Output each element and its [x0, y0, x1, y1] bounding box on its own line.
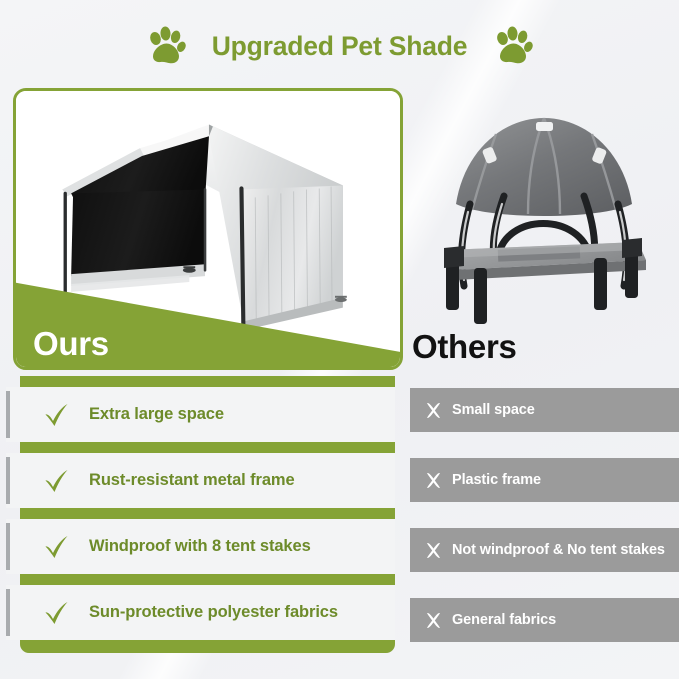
others-feature-label: Not windproof & No tent stakes: [452, 542, 665, 558]
ours-feature-list: Extra large space Rust-resistant metal f…: [6, 376, 403, 653]
row-edge-tab: [6, 457, 10, 504]
ours-feature-label: Sun-protective polyester fabrics: [89, 603, 338, 622]
others-feature-row: Not windproof & No tent stakes: [410, 528, 679, 572]
ours-product-card: Ours: [13, 88, 403, 370]
green-separator-bar: [20, 376, 395, 387]
others-feature-label: Small space: [452, 402, 535, 418]
ours-feature-label: Rust-resistant metal frame: [89, 471, 295, 490]
green-separator-bar: [20, 640, 395, 653]
others-feature-list: Small space Plastic frame Not windproof …: [410, 388, 679, 668]
ours-feature-row: Sun-protective polyester fabrics: [6, 585, 395, 640]
others-label: Others: [412, 330, 517, 363]
cross-mark-icon: [424, 611, 443, 630]
cross-mark-icon: [424, 471, 443, 490]
green-separator-bar: [20, 442, 395, 453]
row-edge-tab: [6, 589, 10, 636]
check-mark-icon: [42, 401, 70, 429]
ours-feature-row: Rust-resistant metal frame: [6, 453, 395, 508]
others-feature-label: Plastic frame: [452, 472, 541, 488]
others-product-photo: [412, 100, 676, 328]
header: Upgraded Pet Shade: [0, 18, 679, 74]
others-feature-row: Small space: [410, 388, 679, 432]
row-edge-tab: [6, 391, 10, 438]
others-feature-row: General fabrics: [410, 598, 679, 642]
green-separator-bar: [20, 574, 395, 585]
ours-feature-label: Windproof with 8 tent stakes: [89, 537, 311, 556]
ours-feature-label: Extra large space: [89, 405, 224, 424]
check-mark-icon: [42, 533, 70, 561]
comparison-infographic: Upgraded Pet Shade: [0, 0, 679, 679]
others-feature-row: Plastic frame: [410, 458, 679, 502]
paw-print-icon: [493, 25, 533, 67]
paw-print-icon: [146, 25, 186, 67]
ours-feature-row: Extra large space: [6, 387, 395, 442]
cross-mark-icon: [424, 401, 443, 420]
ours-label: Ours: [33, 327, 109, 360]
green-separator-bar: [20, 508, 395, 519]
row-edge-tab: [6, 523, 10, 570]
check-mark-icon: [42, 599, 70, 627]
page-title: Upgraded Pet Shade: [212, 31, 468, 62]
ours-feature-row: Windproof with 8 tent stakes: [6, 519, 395, 574]
others-feature-label: General fabrics: [452, 612, 556, 628]
check-mark-icon: [42, 467, 70, 495]
cross-mark-icon: [424, 541, 443, 560]
